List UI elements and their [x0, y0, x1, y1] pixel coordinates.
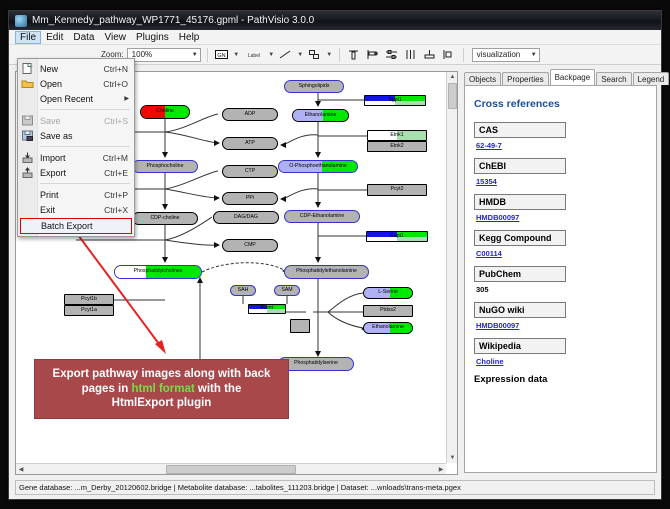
file-menu-item-print[interactable]: PrintCtrl+P — [18, 187, 134, 202]
menu-separator — [40, 109, 130, 110]
visualization-combo[interactable]: visualization ▼ — [472, 48, 540, 62]
open-folder-icon — [21, 78, 34, 89]
menu-help[interactable]: Help — [174, 31, 205, 44]
toolbar-separator-2 — [339, 48, 340, 62]
svg-text:GN: GN — [218, 53, 226, 59]
file-menu-item-open[interactable]: OpenCtrl+O — [18, 76, 134, 91]
import-icon — [21, 152, 34, 163]
annotation-line-2-post: with the — [195, 383, 242, 395]
submenu-arrow-icon: ▶ — [124, 95, 134, 102]
file-menu-item-exit[interactable]: ExitCtrl+X — [18, 202, 134, 217]
backpage-content: Cross references CAS62-49-7ChEBI15354HMD… — [464, 85, 657, 473]
svg-text:+: + — [30, 64, 33, 70]
shape-dropdown-icon[interactable]: ▼ — [326, 52, 333, 58]
menu-separator — [40, 183, 130, 184]
datanode-dropdown-icon[interactable]: ▼ — [233, 52, 240, 58]
metabolite-label: Ethanolamine — [305, 113, 337, 118]
file-menu-item-accelerator: Ctrl+X — [104, 205, 134, 215]
metabolite-node[interactable]: Phosphocholine — [132, 160, 198, 173]
cross-reference-list: CAS62-49-7ChEBI15354HMDBHMDB00097Kegg Co… — [474, 122, 647, 366]
file-menu-item-accelerator: Ctrl+S — [104, 116, 134, 126]
line-icon[interactable] — [278, 47, 294, 62]
file-menu-item-label: Open Recent — [40, 94, 124, 104]
cross-reference-db-name: HMDB — [474, 194, 566, 210]
metabolite-label: Choline — [156, 109, 174, 114]
menu-separator — [40, 146, 130, 147]
new-file-icon: + — [21, 63, 34, 74]
metabolite-node[interactable]: PPi — [222, 192, 278, 205]
metabolite-node[interactable]: SAM — [274, 285, 300, 296]
tab-legend[interactable]: Legend — [633, 72, 670, 85]
file-menu-item-accelerator: Ctrl+E — [104, 168, 134, 178]
gene-label: Etnk1 — [390, 133, 403, 138]
file-menu-item-label: Export — [40, 168, 104, 178]
cross-reference-db-name: ChEBI — [474, 158, 566, 174]
metabolite-node[interactable]: Ethanolamine — [292, 109, 349, 122]
metabolite-node[interactable]: Phosphatidylserine — [278, 357, 354, 371]
canvas-horizontal-scrollbar[interactable]: ◀ ▶ — [16, 463, 446, 474]
metabolite-label: CTP — [245, 169, 255, 174]
status-text: Gene database: ...m_Derby_20120602.bridg… — [19, 483, 461, 492]
cross-reference-link[interactable]: HMDB00097 — [476, 321, 647, 330]
gene-node[interactable]: Cept1 — [366, 231, 428, 242]
tab-objects[interactable]: Objects — [464, 72, 501, 85]
datanode-icon[interactable]: GN — [214, 47, 230, 62]
metabolite-node[interactable]: ATP — [222, 137, 278, 150]
visualization-value: visualization — [477, 50, 521, 59]
gene-node[interactable]: Pcyt1b — [64, 294, 114, 305]
menu-bar: File Edit Data View Plugins Help — [9, 30, 661, 45]
metabolite-label: O-Phosphoethanolamine — [289, 164, 346, 169]
annotation-line-2-pre: pages in — [82, 383, 132, 395]
metabolite-node[interactable]: Ethanolamine — [363, 322, 413, 334]
metabolite-label: PPi — [246, 196, 254, 201]
shape-icon[interactable] — [307, 47, 323, 62]
gene-label: Ptdss2 — [380, 308, 396, 313]
metabolite-label: ATP — [245, 141, 255, 146]
gene-node[interactable] — [290, 319, 310, 333]
distribute-v-icon[interactable] — [403, 47, 419, 62]
gene-label: Pemt — [261, 306, 273, 311]
file-menu-item-label: Open — [40, 79, 103, 89]
file-menu-item-label: Exit — [40, 205, 104, 215]
metabolite-label: CDP-choline — [150, 216, 179, 221]
metabolite-node[interactable]: SAH — [230, 285, 256, 296]
toolbar-separator-3 — [463, 48, 464, 62]
menu-plugins[interactable]: Plugins — [131, 31, 174, 44]
same-height-icon[interactable] — [441, 47, 457, 62]
tab-properties[interactable]: Properties — [502, 72, 548, 85]
metabolite-label: DAG/DAG — [234, 215, 258, 220]
cross-reference-link[interactable]: Choline — [476, 357, 647, 366]
toolbar-separator — [207, 48, 208, 62]
metabolite-label: ADP — [245, 112, 256, 117]
align-left-icon[interactable] — [365, 47, 381, 62]
metabolite-label: Phosphatidylethanolamine — [296, 269, 357, 274]
gene-label: Cept1 — [390, 234, 404, 239]
svg-text:Label: Label — [248, 53, 260, 59]
metabolite-node[interactable]: DAG/DAG — [213, 211, 279, 224]
tab-search[interactable]: Search — [596, 72, 631, 85]
file-menu-item-label: Save — [40, 116, 104, 126]
label-icon[interactable]: Label — [243, 47, 265, 62]
label-dropdown-icon[interactable]: ▼ — [268, 52, 275, 58]
tab-backpage[interactable]: Backpage — [550, 69, 596, 85]
file-menu-item-accelerator: Ctrl+P — [104, 190, 134, 200]
metabolite-label: Sphingolipids — [299, 84, 330, 89]
file-menu-item-label: Save as — [40, 131, 128, 141]
scroll-left-icon[interactable]: ◀ — [16, 464, 26, 475]
metabolite-label: Ethanolamine — [372, 325, 404, 330]
file-menu-item-label: Print — [40, 190, 104, 200]
screenshot-frame: Mm_Kennedy_pathway_WP1771_45176.gpml - P… — [0, 0, 670, 509]
file-menu-item-label: Import — [40, 153, 103, 163]
cross-references-heading: Cross references — [474, 98, 647, 110]
cross-reference-db-name: NuGO wiki — [474, 302, 566, 318]
gene-node[interactable]: Etnk2 — [367, 141, 427, 152]
menu-view[interactable]: View — [99, 31, 131, 44]
metabolite-node[interactable]: O-Phosphoethanolamine — [278, 160, 358, 173]
pathvisio-icon — [15, 15, 27, 27]
cross-reference-db-name: Wikipedia — [474, 338, 566, 354]
file-menu-item-label: New — [40, 64, 104, 74]
metabolite-label: L-Serine — [378, 290, 398, 295]
metabolite-node[interactable]: CDP-choline — [132, 212, 198, 225]
gene-node[interactable]: Pcyt1a — [64, 305, 114, 316]
cross-reference-link[interactable]: C00114 — [476, 249, 647, 258]
gene-label: Pcyt1a — [81, 308, 97, 313]
file-menu-item-label: Batch Export — [41, 221, 125, 231]
metabolite-node[interactable]: CMP — [222, 239, 278, 252]
annotation-line-1: Export pathway images along with back — [53, 368, 271, 380]
side-panel: Objects Properties Backpage Search Legen… — [464, 69, 657, 473]
file-menu-dropdown[interactable]: +NewCtrl+NOpenCtrl+OOpen Recent▶SaveCtrl… — [17, 58, 135, 237]
vertical-scroll-thumb[interactable] — [448, 83, 457, 109]
horizontal-scroll-thumb[interactable] — [166, 465, 296, 474]
metabolite-node[interactable]: Choline — [140, 105, 190, 119]
chevron-down-icon-2: ▼ — [531, 52, 537, 58]
chevron-down-icon: ▼ — [192, 52, 198, 58]
menu-file[interactable]: File — [15, 31, 41, 44]
file-menu-item-open-recent[interactable]: Open Recent▶ — [18, 91, 134, 106]
file-menu-item-import[interactable]: ImportCtrl+M — [18, 150, 134, 165]
status-bar: Gene database: ...m_Derby_20120602.bridg… — [15, 480, 655, 495]
metabolite-label: SAM — [281, 288, 292, 293]
expression-data-heading: Expression data — [474, 374, 647, 385]
same-width-icon[interactable] — [422, 47, 438, 62]
gene-node[interactable]: Etnk1 — [367, 130, 427, 141]
cross-reference-link[interactable]: 15354 — [476, 177, 647, 186]
gene-node[interactable]: Ptdss2 — [363, 305, 413, 317]
file-menu-item-save: SaveCtrl+S — [18, 113, 134, 128]
cross-reference-link[interactable]: 62-49-7 — [476, 141, 647, 150]
gene-label: Pcyt1b — [81, 297, 97, 302]
metabolite-node[interactable]: Phosphatidylcholines — [114, 265, 202, 279]
file-menu-item-accelerator: Ctrl+N — [104, 64, 134, 74]
gene-node[interactable]: Pemt — [248, 304, 286, 314]
cross-reference-db-name: CAS — [474, 122, 566, 138]
metabolite-label: CMP — [244, 243, 256, 248]
file-menu-item-new[interactable]: +NewCtrl+N — [18, 61, 134, 76]
scroll-down-icon[interactable]: ▼ — [447, 453, 458, 463]
align-top-icon[interactable] — [346, 47, 362, 62]
gene-label: Pcyt2 — [391, 187, 404, 192]
save-disk-icon — [21, 115, 34, 126]
line-dropdown-icon[interactable]: ▼ — [297, 52, 304, 58]
gene-label: Etnk2 — [390, 144, 403, 149]
file-menu-item-export[interactable]: ExportCtrl+E — [18, 165, 134, 180]
file-menu-item-save-as[interactable]: Save as — [18, 128, 134, 143]
file-menu-item-accelerator: Ctrl+M — [103, 153, 134, 163]
scroll-right-icon[interactable]: ▶ — [436, 464, 446, 475]
scroll-up-icon[interactable]: ▲ — [447, 72, 458, 82]
export-icon — [21, 167, 34, 178]
metabolite-node[interactable]: CDP-Ethanolamine — [284, 210, 360, 223]
cross-reference-db-name: Kegg Compound — [474, 230, 566, 246]
annotation-banner: Export pathway images along with back pa… — [34, 359, 289, 419]
annotation-line-2-highlight: html format — [131, 383, 194, 395]
application-window: Mm_Kennedy_pathway_WP1771_45176.gpml - P… — [8, 10, 662, 500]
file-menu-item-batch-export[interactable]: Batch Export — [20, 218, 132, 234]
metabolite-node[interactable]: Sphingolipids — [284, 80, 344, 93]
gene-label: Sgpl1 — [388, 98, 401, 103]
file-menu-items: +NewCtrl+NOpenCtrl+OOpen Recent▶SaveCtrl… — [18, 61, 134, 234]
metabolite-node[interactable]: L-Serine — [363, 287, 413, 299]
metabolite-node[interactable]: Phosphatidylethanolamine — [284, 265, 369, 279]
side-panel-tabs: Objects Properties Backpage Search Legen… — [464, 69, 657, 85]
cross-reference-link[interactable]: HMDB00097 — [476, 213, 647, 222]
canvas-vertical-scrollbar[interactable]: ▲ ▼ — [446, 72, 457, 463]
zoom-combo[interactable]: 100% ▼ — [127, 48, 201, 62]
cross-reference-value: 305 — [476, 285, 647, 294]
metabolite-node[interactable]: CTP — [222, 165, 278, 178]
annotation-line-3: HtmlExport plugin — [112, 397, 212, 409]
window-title: Mm_Kennedy_pathway_WP1771_45176.gpml - P… — [32, 15, 314, 26]
metabolite-node[interactable]: ADP — [222, 108, 278, 121]
file-menu-item-accelerator: Ctrl+O — [103, 79, 134, 89]
save-as-icon — [21, 130, 34, 141]
metabolite-label: CDP-Ethanolamine — [300, 214, 344, 219]
menu-edit[interactable]: Edit — [41, 31, 68, 44]
menu-data[interactable]: Data — [68, 31, 99, 44]
metabolite-label: Phosphocholine — [147, 164, 184, 169]
title-bar: Mm_Kennedy_pathway_WP1771_45176.gpml - P… — [9, 11, 661, 30]
cross-reference-db-name: PubChem — [474, 266, 566, 282]
gene-node[interactable]: Pcyt2 — [367, 184, 427, 196]
metabolite-label: SAH — [238, 288, 249, 293]
gene-node[interactable]: Sgpl1 — [364, 95, 426, 106]
metabolite-label: Phosphatidylcholines — [134, 269, 183, 274]
metabolite-label: Phosphatidylserine — [294, 361, 338, 366]
distribute-h-icon[interactable] — [384, 47, 400, 62]
